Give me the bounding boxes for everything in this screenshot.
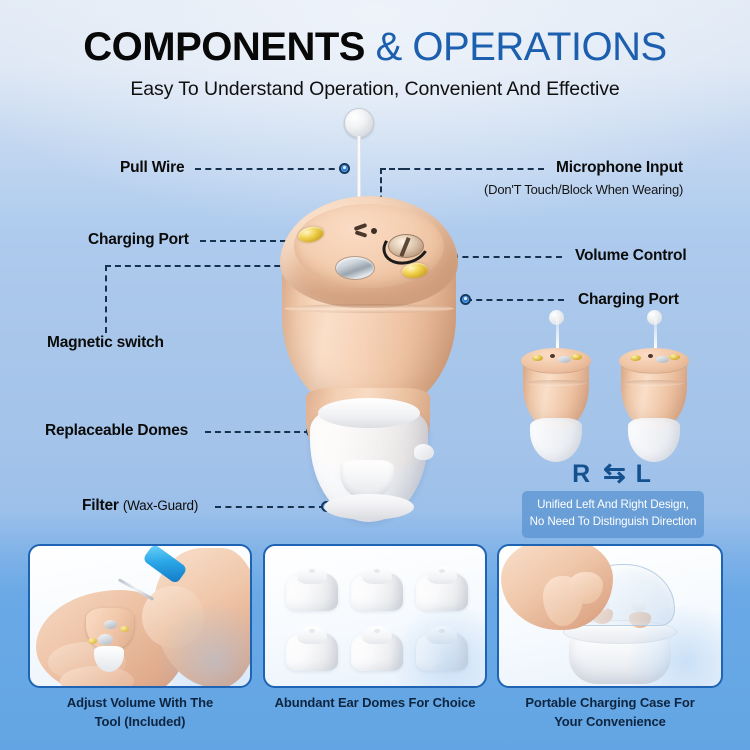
caption-adjust-volume: Adjust Volume With The Tool (Included) bbox=[28, 694, 252, 732]
label-charging-port-right: Charging Port bbox=[578, 291, 679, 309]
mini-gold-contact-1 bbox=[532, 355, 543, 361]
ear-dome-item bbox=[349, 563, 405, 613]
finger-2 bbox=[60, 666, 134, 688]
leader-magnetic-switch-vertical bbox=[105, 265, 107, 333]
dome-side-nub bbox=[414, 444, 434, 460]
right-letter: R bbox=[572, 460, 593, 488]
mini-gold-contact-1 bbox=[630, 355, 641, 361]
caption-charging-case: Portable Charging Case For Your Convenie… bbox=[497, 694, 723, 732]
mini-pull-wire-stem bbox=[654, 318, 657, 348]
left-right-pair-group: R ⇆ L Unified Left And Right Design, No … bbox=[508, 340, 718, 530]
caption-ear-domes: Abundant Ear Domes For Choice bbox=[263, 694, 487, 713]
ear-dome-item bbox=[284, 623, 340, 673]
caption-line1: Abundant Ear Domes For Choice bbox=[263, 694, 487, 713]
device-seam bbox=[284, 304, 454, 313]
header: COMPONENTS & OPERATIONS Easy To Understa… bbox=[0, 0, 750, 101]
mini-mic-hole bbox=[648, 354, 653, 358]
magnetic-switch-control bbox=[335, 256, 375, 280]
page-subtitle: Easy To Understand Operation, Convenient… bbox=[0, 78, 750, 101]
ear-dome-nib bbox=[374, 629, 380, 633]
mini-magnetic-switch bbox=[656, 356, 669, 363]
caption-line1: Portable Charging Case For bbox=[497, 694, 723, 713]
mini-gold-contact-2 bbox=[669, 354, 680, 360]
feature-panels: Adjust Volume With The Tool (Included) A… bbox=[0, 540, 750, 750]
label-filter: Filter (Wax-Guard) bbox=[82, 497, 198, 515]
label-filter-note: (Wax-Guard) bbox=[123, 498, 198, 513]
left-letter: L bbox=[636, 460, 654, 488]
panel-ear-domes[interactable] bbox=[263, 544, 487, 688]
caption-line1: Adjust Volume With The bbox=[28, 694, 252, 713]
right-left-indicator: R ⇆ L bbox=[508, 458, 718, 489]
leader-charging-port-right bbox=[466, 299, 564, 301]
ear-dome-nib bbox=[374, 569, 380, 573]
title-secondary: & OPERATIONS bbox=[376, 25, 667, 69]
swap-arrows-icon: ⇆ bbox=[603, 458, 626, 488]
aid-gold-contact-1 bbox=[88, 638, 97, 644]
panel-adjust-volume[interactable] bbox=[28, 544, 252, 688]
label-pull-wire: Pull Wire bbox=[120, 159, 184, 177]
mic-slot-lower bbox=[355, 230, 368, 238]
dome-collar bbox=[318, 398, 420, 428]
label-volume-control: Volume Control bbox=[575, 247, 686, 265]
label-filter-main: Filter bbox=[82, 497, 119, 514]
filter-wax-guard-tip bbox=[324, 494, 414, 520]
mini-top-controls bbox=[530, 352, 582, 366]
title-primary: COMPONENTS bbox=[83, 25, 365, 69]
hearing-aid-right-unit bbox=[518, 340, 594, 466]
mic-pinhole bbox=[371, 228, 377, 234]
ear-dome-nib bbox=[309, 629, 315, 633]
caption-line2: Your Convenience bbox=[497, 713, 723, 732]
label-charging-port-left: Charging Port bbox=[88, 231, 189, 249]
volume-control-dial bbox=[388, 234, 424, 258]
mini-pull-wire-stem bbox=[556, 318, 559, 348]
microphone-input-holes bbox=[354, 224, 384, 240]
mini-mic-hole bbox=[550, 354, 555, 358]
ear-dome-item bbox=[284, 563, 340, 613]
mini-seam bbox=[525, 380, 587, 386]
label-magnetic-switch: Magnetic switch bbox=[47, 334, 164, 352]
mini-replaceable-dome bbox=[530, 418, 582, 462]
panel-charging-case[interactable] bbox=[497, 544, 723, 688]
infographic-page: COMPONENTS & OPERATIONS Easy To Understa… bbox=[0, 0, 750, 750]
pull-wire-handle-icon bbox=[344, 108, 374, 138]
aid-magnetic-switch bbox=[98, 634, 113, 645]
label-microphone-input-note: (Don'T Touch/Block When Wearing) bbox=[484, 182, 683, 197]
unified-design-caption-line2: No Need To Distinguish Direction bbox=[528, 514, 698, 531]
mini-gold-contact-2 bbox=[571, 354, 582, 360]
aid-gold-contact-2 bbox=[120, 626, 129, 632]
unified-design-caption-line1: Unified Left And Right Design, bbox=[528, 497, 698, 514]
hearing-aid-left-unit bbox=[616, 340, 692, 466]
mini-top-controls bbox=[628, 352, 680, 366]
unified-design-caption: Unified Left And Right Design, No Need T… bbox=[522, 491, 704, 538]
page-title: COMPONENTS & OPERATIONS bbox=[0, 26, 750, 68]
label-replaceable-domes: Replaceable Domes bbox=[45, 422, 188, 440]
mini-replaceable-dome bbox=[628, 418, 680, 462]
ear-dome-nib bbox=[309, 569, 315, 573]
aid-volume-dial bbox=[104, 620, 117, 629]
label-microphone-input: Microphone Input bbox=[556, 159, 683, 177]
hearing-aid-illustration bbox=[268, 108, 468, 518]
mini-seam bbox=[623, 380, 685, 386]
leader-volume-control bbox=[452, 256, 562, 258]
mini-magnetic-switch bbox=[558, 356, 571, 363]
caption-line2: Tool (Included) bbox=[28, 713, 252, 732]
